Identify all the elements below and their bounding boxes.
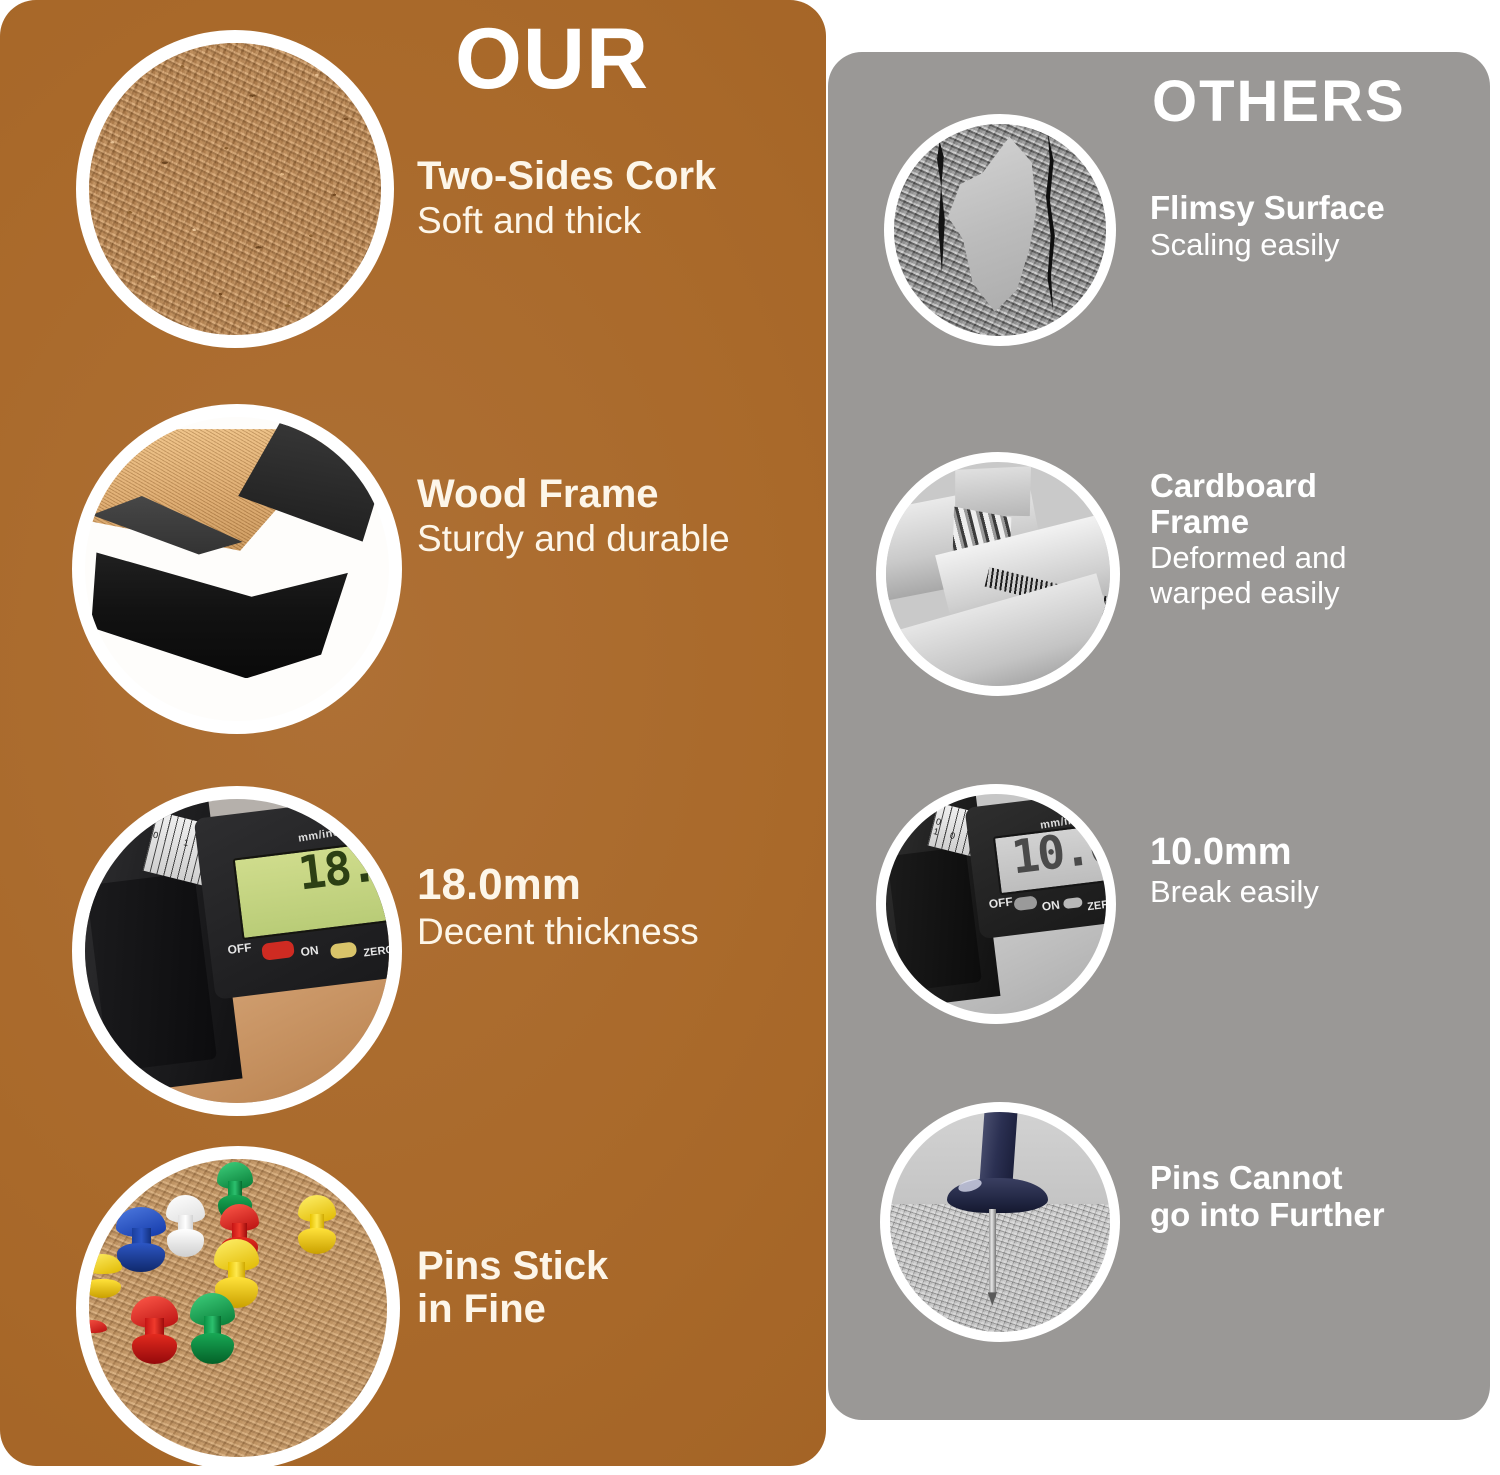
others-feature-1-heading: Flimsy Surface [1150,190,1385,226]
pin-red-lower [131,1296,179,1362]
ours-feature-3-heading: 18.0mm [417,861,699,909]
caliper-image-ours: 0 10 mm/inch 18.0 OFF ON ZERO [85,799,389,1103]
cork-texture-image [89,43,381,335]
ours-feature-4-heading: Pins Stickin Fine [417,1245,608,1331]
pin-red-edge [89,1320,107,1347]
cardboard-render [886,462,1110,686]
surface-crack-left [936,141,947,272]
others-feature-3-text: 10.0mm Break easily [1150,832,1319,910]
ours-feature-1-heading: Two-Sides Cork [417,155,716,198]
caliper-on-label-others: ON [1041,898,1061,914]
hard-surface-grain [890,1204,1110,1332]
ours-feature-3-subtext: Decent thickness [417,911,699,952]
others-feature-2-heading: CardboardFrame [1150,468,1346,539]
caliper-zero-label: ZERO [363,944,389,960]
pins-cork-render [89,1159,387,1457]
pin-hard-surface-render [890,1112,1110,1332]
pin-white-base [167,1229,204,1256]
caliper-zero-button[interactable] [329,941,357,959]
caliper-jaw [86,872,218,1072]
ours-feature-2-subtext: Sturdy and durable [417,518,730,559]
wood-frame-image [85,417,389,721]
frame-corner-render [85,417,389,721]
others-feature-4-heading: Pins Cannotgo into Further [1150,1160,1385,1234]
others-feature-3-heading: 10.0mm [1150,832,1319,873]
pin-hard-surface-image [890,1112,1110,1332]
pin-blue-base [117,1243,166,1272]
pin-red-lower-base [132,1334,178,1364]
pin-yellow-left [89,1254,122,1296]
others-feature-2-text: CardboardFrame Deformed andwarped easily [1150,468,1346,611]
ours-feature-1-text: Two-Sides Cork Soft and thick [417,155,716,242]
cardboard-corrugated-frame-photo [876,452,1120,696]
pin-green-lower [190,1293,235,1362]
wood-frame-corner-photo [72,404,402,734]
flimsy-scaling-surface-photo [884,114,1116,346]
ours-feature-3-text: 18.0mm Decent thickness [417,861,699,952]
ours-feature-4-text: Pins Stickin Fine [417,1245,608,1333]
others-feature-2-subtext: Deformed andwarped easily [1150,541,1346,610]
caliper-off-label-others: OFF [988,895,1014,912]
pin-needle [989,1209,996,1297]
ours-feature-1-subtext: Soft and thick [417,200,716,241]
others-feature-1-text: Flimsy Surface Scaling easily [1150,190,1385,262]
pin-blue [116,1207,167,1270]
flimsy-surface-image [894,124,1106,336]
caliper-image-others: 0 10 mm/inch 10.0 OFF ON ZERO [886,794,1106,1014]
pins-in-cork-image [89,1159,387,1457]
caliper-power-button[interactable] [261,939,294,960]
cork-texture-photo [76,30,394,348]
caliper-power-button-others[interactable] [1014,896,1038,911]
ours-feature-2-heading: Wood Frame [417,473,730,516]
ours-feature-2-text: Wood Frame Sturdy and durable [417,473,730,560]
pin-on-hard-surface-photo [880,1102,1120,1342]
others-column-title: OTHERS [1152,73,1406,131]
cork-grain-fill [89,43,381,335]
caliper-zero-label-others: ZERO [1087,898,1106,914]
others-feature-1-subtext: Scaling easily [1150,228,1385,263]
caliper-zero-button-others[interactable] [1063,897,1083,910]
pin-green-lower-base [191,1333,234,1365]
caliper-on-label: ON [300,943,320,959]
pin-yellow-left-cap [89,1254,122,1274]
others-feature-3-subtext: Break easily [1150,875,1319,910]
cardboard-frame-image [886,462,1110,686]
pin-yellow-left-base [89,1279,121,1298]
comparison-infographic: OUR OTHERS 0 10 mm/i [0,0,1500,1475]
pin-red-edge-cap [89,1320,107,1333]
caliper-off-label: OFF [227,940,253,957]
digital-caliper-photo: 0 10 mm/inch 18.0 OFF ON ZERO [72,786,402,1116]
ours-column-title: OUR [455,16,649,102]
pin-yellow-right [298,1195,337,1252]
flimsy-surface-render [894,124,1106,336]
scaled-off-patch [941,137,1064,319]
surface-crack-right [1042,132,1057,310]
push-pins-in-cork-photo [76,1146,400,1470]
caliper-jaw-others [887,847,982,992]
pin-yellow-right-base [298,1228,335,1254]
caliper-render-ours: 0 10 mm/inch 18.0 OFF ON ZERO [85,799,389,1103]
others-feature-4-text: Pins Cannotgo into Further [1150,1160,1385,1236]
pin-white [166,1195,205,1255]
digital-caliper-thin-photo: 0 10 mm/inch 10.0 OFF ON ZERO [876,784,1116,1024]
caliper-render-others: 0 10 mm/inch 10.0 OFF ON ZERO [886,794,1106,1014]
